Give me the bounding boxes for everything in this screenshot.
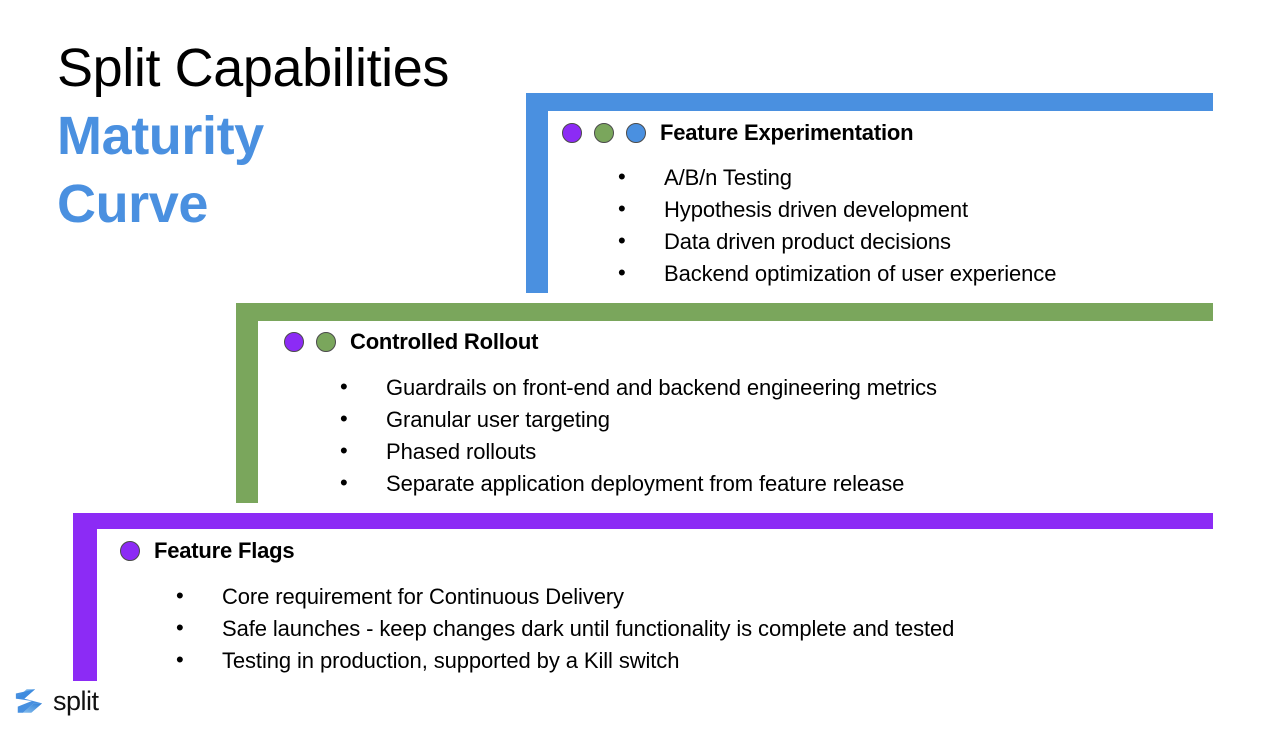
list-item: Core requirement for Continuous Delivery [176, 581, 954, 613]
list-item: Hypothesis driven development [618, 194, 1056, 226]
tier-heading-row: Feature Flags [120, 538, 954, 564]
title-line-accent-1: Maturity [57, 102, 487, 170]
tier-content: Controlled Rollout Guardrails on front-e… [284, 329, 937, 500]
tier-dot-group [284, 332, 336, 352]
list-item: Data driven product decisions [618, 226, 1056, 258]
maturity-dot-green-icon [316, 332, 336, 352]
list-item: Testing in production, supported by a Ki… [176, 645, 954, 677]
list-item: Phased rollouts [340, 436, 937, 468]
tier-heading-row: Controlled Rollout [284, 329, 937, 355]
list-item: Guardrails on front-end and backend engi… [340, 372, 937, 404]
tier-bullet-list: Guardrails on front-end and backend engi… [340, 372, 937, 500]
tier-bullet-list: Core requirement for Continuous Delivery… [176, 581, 954, 677]
tier-bracket-left-bar [526, 93, 548, 293]
brand-wordmark: split [53, 688, 99, 715]
list-item: Granular user targeting [340, 404, 937, 436]
brand-logo: split [14, 686, 99, 716]
tier-heading-label: Feature Experimentation [660, 120, 913, 146]
tier-controlled-rollout: Controlled Rollout Guardrails on front-e… [236, 303, 1213, 503]
list-item: Separate application deployment from fea… [340, 468, 937, 500]
tier-heading-row: Feature Experimentation [562, 120, 1056, 146]
tier-feature-flags: Feature Flags Core requirement for Conti… [73, 513, 1213, 681]
tier-bracket-top-bar [526, 93, 1213, 111]
tier-heading-label: Feature Flags [154, 538, 294, 564]
tier-bracket-top-bar [236, 303, 1213, 321]
tier-heading-label: Controlled Rollout [350, 329, 538, 355]
page-title: Split Capabilities Maturity Curve [57, 34, 487, 238]
tier-content: Feature Experimentation A/B/n Testing Hy… [562, 120, 1056, 290]
tier-dot-group [120, 541, 140, 561]
tier-bullet-list: A/B/n Testing Hypothesis driven developm… [618, 162, 1056, 290]
list-item: A/B/n Testing [618, 162, 1056, 194]
tier-dot-group [562, 123, 646, 143]
title-line-accent-2: Curve [57, 170, 487, 238]
list-item: Safe launches - keep changes dark until … [176, 613, 954, 645]
maturity-dot-purple-icon [562, 123, 582, 143]
maturity-dot-purple-icon [284, 332, 304, 352]
tier-feature-experimentation: Feature Experimentation A/B/n Testing Hy… [526, 93, 1213, 293]
tier-bracket-left-bar [236, 303, 258, 503]
slide-canvas: Split Capabilities Maturity Curve Featur… [0, 0, 1262, 735]
tier-content: Feature Flags Core requirement for Conti… [120, 538, 954, 677]
tier-bracket-left-bar [73, 513, 97, 681]
list-item: Backend optimization of user experience [618, 258, 1056, 290]
title-line-primary: Split Capabilities [57, 34, 487, 102]
maturity-dot-green-icon [594, 123, 614, 143]
tier-bracket-top-bar [73, 513, 1213, 529]
maturity-dot-purple-icon [120, 541, 140, 561]
maturity-dot-blue-icon [626, 123, 646, 143]
split-chevron-logo-icon [14, 686, 44, 716]
